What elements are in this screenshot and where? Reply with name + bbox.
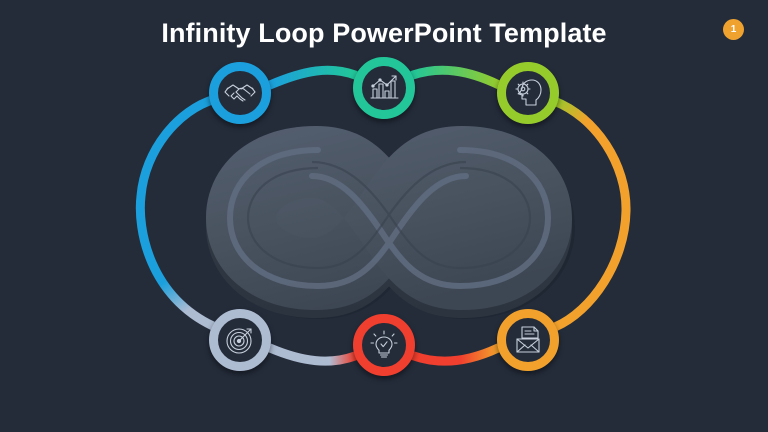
connector-left-arc xyxy=(140,99,215,326)
node-mind-gear[interactable] xyxy=(497,62,559,124)
page-title: Infinity Loop PowerPoint Template xyxy=(0,18,768,49)
node-mail[interactable] xyxy=(497,309,559,371)
page-number-badge: 1 xyxy=(723,19,744,40)
lightbulb-idea-icon xyxy=(367,328,401,362)
node-growth-chart[interactable] xyxy=(353,57,415,119)
slide-canvas: Infinity Loop PowerPoint Template 1 xyxy=(0,0,768,432)
connector-top-right-segment xyxy=(413,70,499,85)
target-dartboard-icon xyxy=(223,323,257,357)
node-idea[interactable] xyxy=(353,314,415,376)
connector-top-left-segment xyxy=(270,70,355,85)
handshake-icon xyxy=(223,76,257,110)
envelope-document-icon xyxy=(511,323,545,357)
node-handshake[interactable] xyxy=(209,62,271,124)
infinity-loop-diagram xyxy=(0,0,768,432)
connector-bottom-left-segment xyxy=(270,348,355,361)
head-gear-icon xyxy=(511,76,545,110)
infinity-symbol xyxy=(206,126,575,319)
node-target[interactable] xyxy=(209,309,271,371)
connector-bottom-right-segment xyxy=(414,348,498,361)
bar-chart-growth-icon xyxy=(367,71,401,105)
